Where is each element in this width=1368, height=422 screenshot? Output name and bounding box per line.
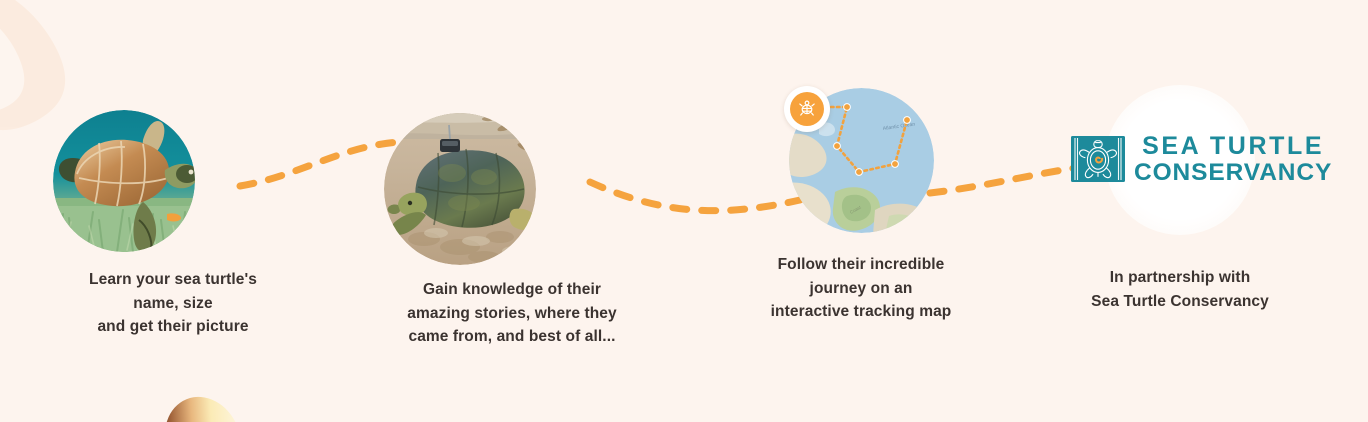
step-4-caption: In partnership with Sea Turtle Conservan…	[1060, 266, 1300, 313]
turtle-emblem-icon	[1071, 134, 1125, 186]
turtle-icon	[790, 92, 824, 126]
step-4-media: SEA TURTLE CONSERVANCY	[1060, 85, 1300, 235]
map-turtle-badge[interactable]	[784, 86, 830, 132]
step-1-media	[53, 110, 293, 252]
step-learn-turtle: Learn your sea turtle's name, size and g…	[53, 110, 293, 339]
step-partnership: SEA TURTLE CONSERVANCY In partnership wi…	[1060, 85, 1300, 313]
step-2-media	[384, 113, 640, 265]
stc-line-1: SEA TURTLE	[1134, 134, 1332, 159]
step-3-media: Atlantic Ocean Coast	[789, 88, 934, 233]
photo-turtle-swimming	[53, 110, 195, 252]
step-1-caption: Learn your sea turtle's name, size and g…	[53, 268, 293, 339]
photo-turtle-tagged	[384, 113, 536, 265]
step-3-caption: Follow their incredible journey on an in…	[733, 253, 989, 324]
stc-line-2: CONSERVANCY	[1134, 161, 1332, 186]
journey-steps: Learn your sea turtle's name, size and g…	[0, 0, 1368, 422]
stc-wordmark: SEA TURTLE CONSERVANCY	[1134, 134, 1332, 186]
step-tracking-map: Atlantic Ocean Coast	[733, 88, 989, 324]
step-gain-knowledge: Gain knowledge of their amazing stories,…	[384, 113, 640, 349]
step-2-caption: Gain knowledge of their amazing stories,…	[384, 278, 640, 349]
stc-logo[interactable]: SEA TURTLE CONSERVANCY	[1071, 134, 1289, 186]
